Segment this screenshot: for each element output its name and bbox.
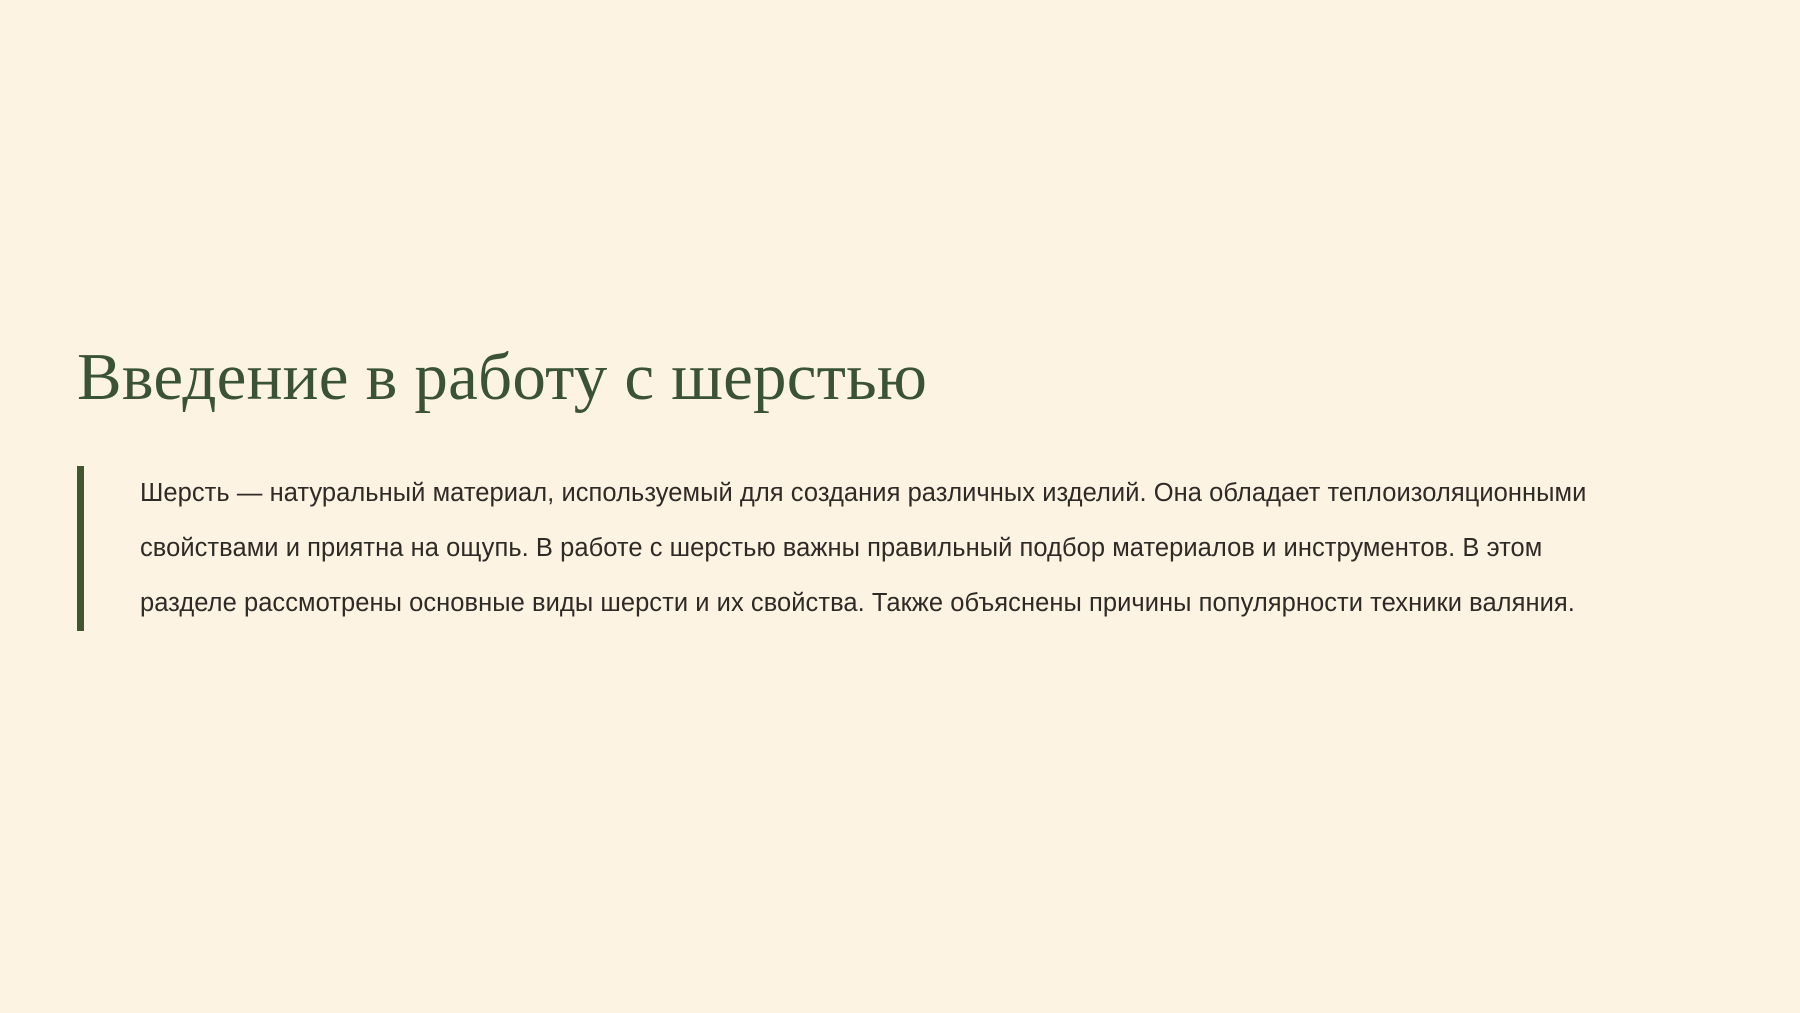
slide-canvas: Введение в работу с шерстью Шерсть — нат… <box>0 0 1800 1013</box>
callout-paragraph: Шерсть — натуральный материал, используе… <box>140 466 1637 631</box>
page-title: Введение в работу с шерстью <box>77 341 927 413</box>
callout-block: Шерсть — натуральный материал, используе… <box>77 466 1637 631</box>
